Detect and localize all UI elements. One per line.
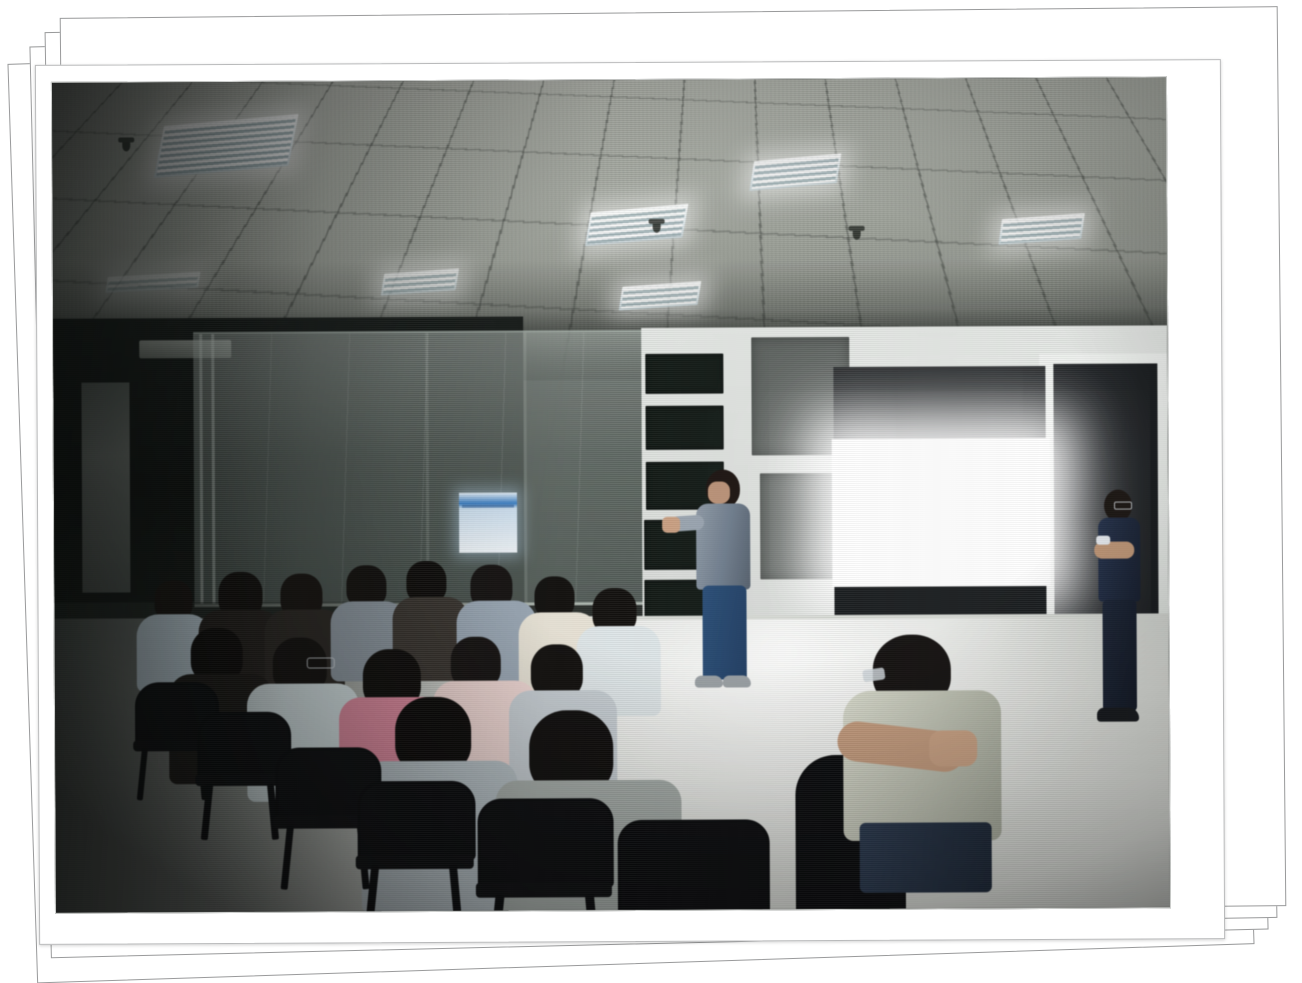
door-slat-panel: [645, 354, 723, 394]
reflected-monitor: [459, 493, 517, 553]
presenter-hand: [662, 517, 680, 533]
sprinkler-icon: [653, 222, 661, 233]
sprinkler-icon: [122, 140, 130, 151]
audience-glasses-icon: [307, 657, 335, 668]
sprinkler-icon: [853, 229, 861, 240]
observer-glasses-icon: [1114, 502, 1132, 510]
photo-stack-viewer: [0, 0, 1302, 983]
photo-card[interactable]: [35, 59, 1225, 945]
observer-legs: [1102, 600, 1137, 712]
attendee-hand: [929, 730, 977, 766]
folding-chair: [355, 781, 476, 914]
observer-sleeve-cuff: [1096, 536, 1110, 545]
observer-torso: [1098, 518, 1140, 602]
observer-shoe: [1097, 708, 1139, 722]
folding-chair: [616, 819, 773, 914]
door-slat-panel: [646, 406, 724, 450]
presenter-face: [708, 482, 730, 504]
screen-projection-surface: [832, 438, 1051, 587]
screen-top-mask: [833, 366, 1045, 439]
scene-photograph: [51, 76, 1171, 913]
folding-chair: [475, 798, 616, 914]
attendee-legs: [860, 822, 992, 893]
